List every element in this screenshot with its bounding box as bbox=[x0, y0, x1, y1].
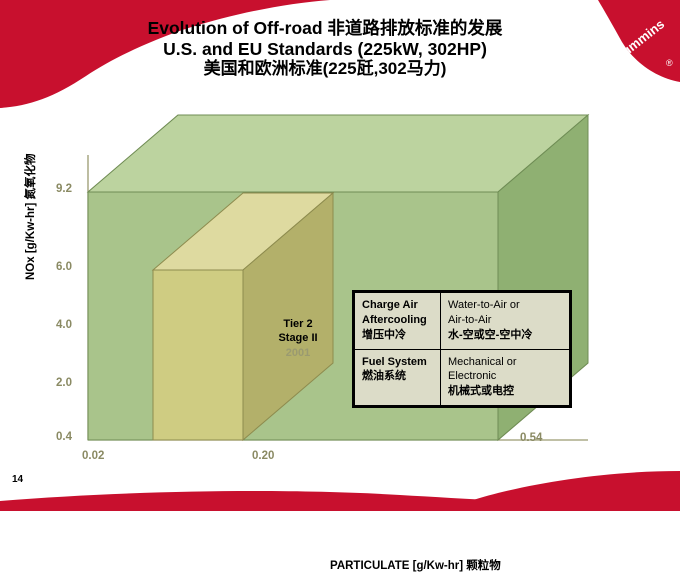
y-tick-4: 0.4 bbox=[56, 431, 72, 443]
chart-3d-bar: NOx [g/Kw-hr] 氮氧化物 9.2 6.0 4.0 2.0 0.4 0… bbox=[0, 95, 680, 485]
spec-table: Charge Air Aftercooling 增压中冷 Water-to-Ai… bbox=[352, 290, 572, 408]
spec-key-charge-air: Charge Air Aftercooling 增压中冷 bbox=[355, 293, 441, 350]
spec-value-fuel-system: Mechanical or Electronic 机械式或电控 bbox=[441, 349, 570, 406]
y-tick-1: 6.0 bbox=[56, 261, 72, 273]
table-row: Charge Air Aftercooling 增压中冷 Water-to-Ai… bbox=[355, 293, 570, 350]
x-axis-label: PARTICULATE [g/Kw-hr] 颗粒物 bbox=[330, 557, 501, 573]
x-tick-0: 0.02 bbox=[82, 450, 104, 462]
x-tick-2: 0.54 bbox=[520, 432, 542, 444]
title-line-3: 美国和欧洲标准(225瓩,302马力) bbox=[90, 59, 560, 79]
bar-label-year: 2001 bbox=[258, 346, 338, 360]
bar-label-line2: Stage II bbox=[258, 331, 338, 345]
x-tick-1: 0.20 bbox=[252, 450, 274, 462]
chart-canvas bbox=[0, 95, 680, 485]
bar-label-line1: Tier 2 bbox=[258, 317, 338, 331]
title-line-1: Evolution of Off-road 非道路排放标准的发展 bbox=[90, 18, 560, 39]
bar-label-tier2: Tier 2 Stage II 2001 bbox=[258, 317, 338, 360]
title-line-2: U.S. and EU Standards (225kW, 302HP) bbox=[90, 39, 560, 60]
spec-value-charge-air: Water-to-Air or Air-to-Air 水-空或空-空中冷 bbox=[441, 293, 570, 350]
y-tick-2: 4.0 bbox=[56, 319, 72, 331]
table-row: Fuel System 燃油系统 Mechanical or Electroni… bbox=[355, 349, 570, 406]
cummins-logo: Cummins ® bbox=[560, 0, 680, 100]
y-tick-0: 9.2 bbox=[56, 183, 72, 195]
spec-key-fuel-system: Fuel System 燃油系统 bbox=[355, 349, 441, 406]
y-axis-label: NOx [g/Kw-hr] 氮氧化物 bbox=[22, 153, 38, 280]
y-tick-3: 2.0 bbox=[56, 377, 72, 389]
svg-text:®: ® bbox=[666, 58, 673, 68]
page-title: Evolution of Off-road 非道路排放标准的发展 U.S. an… bbox=[90, 18, 560, 79]
page-number: 14 bbox=[12, 474, 23, 485]
